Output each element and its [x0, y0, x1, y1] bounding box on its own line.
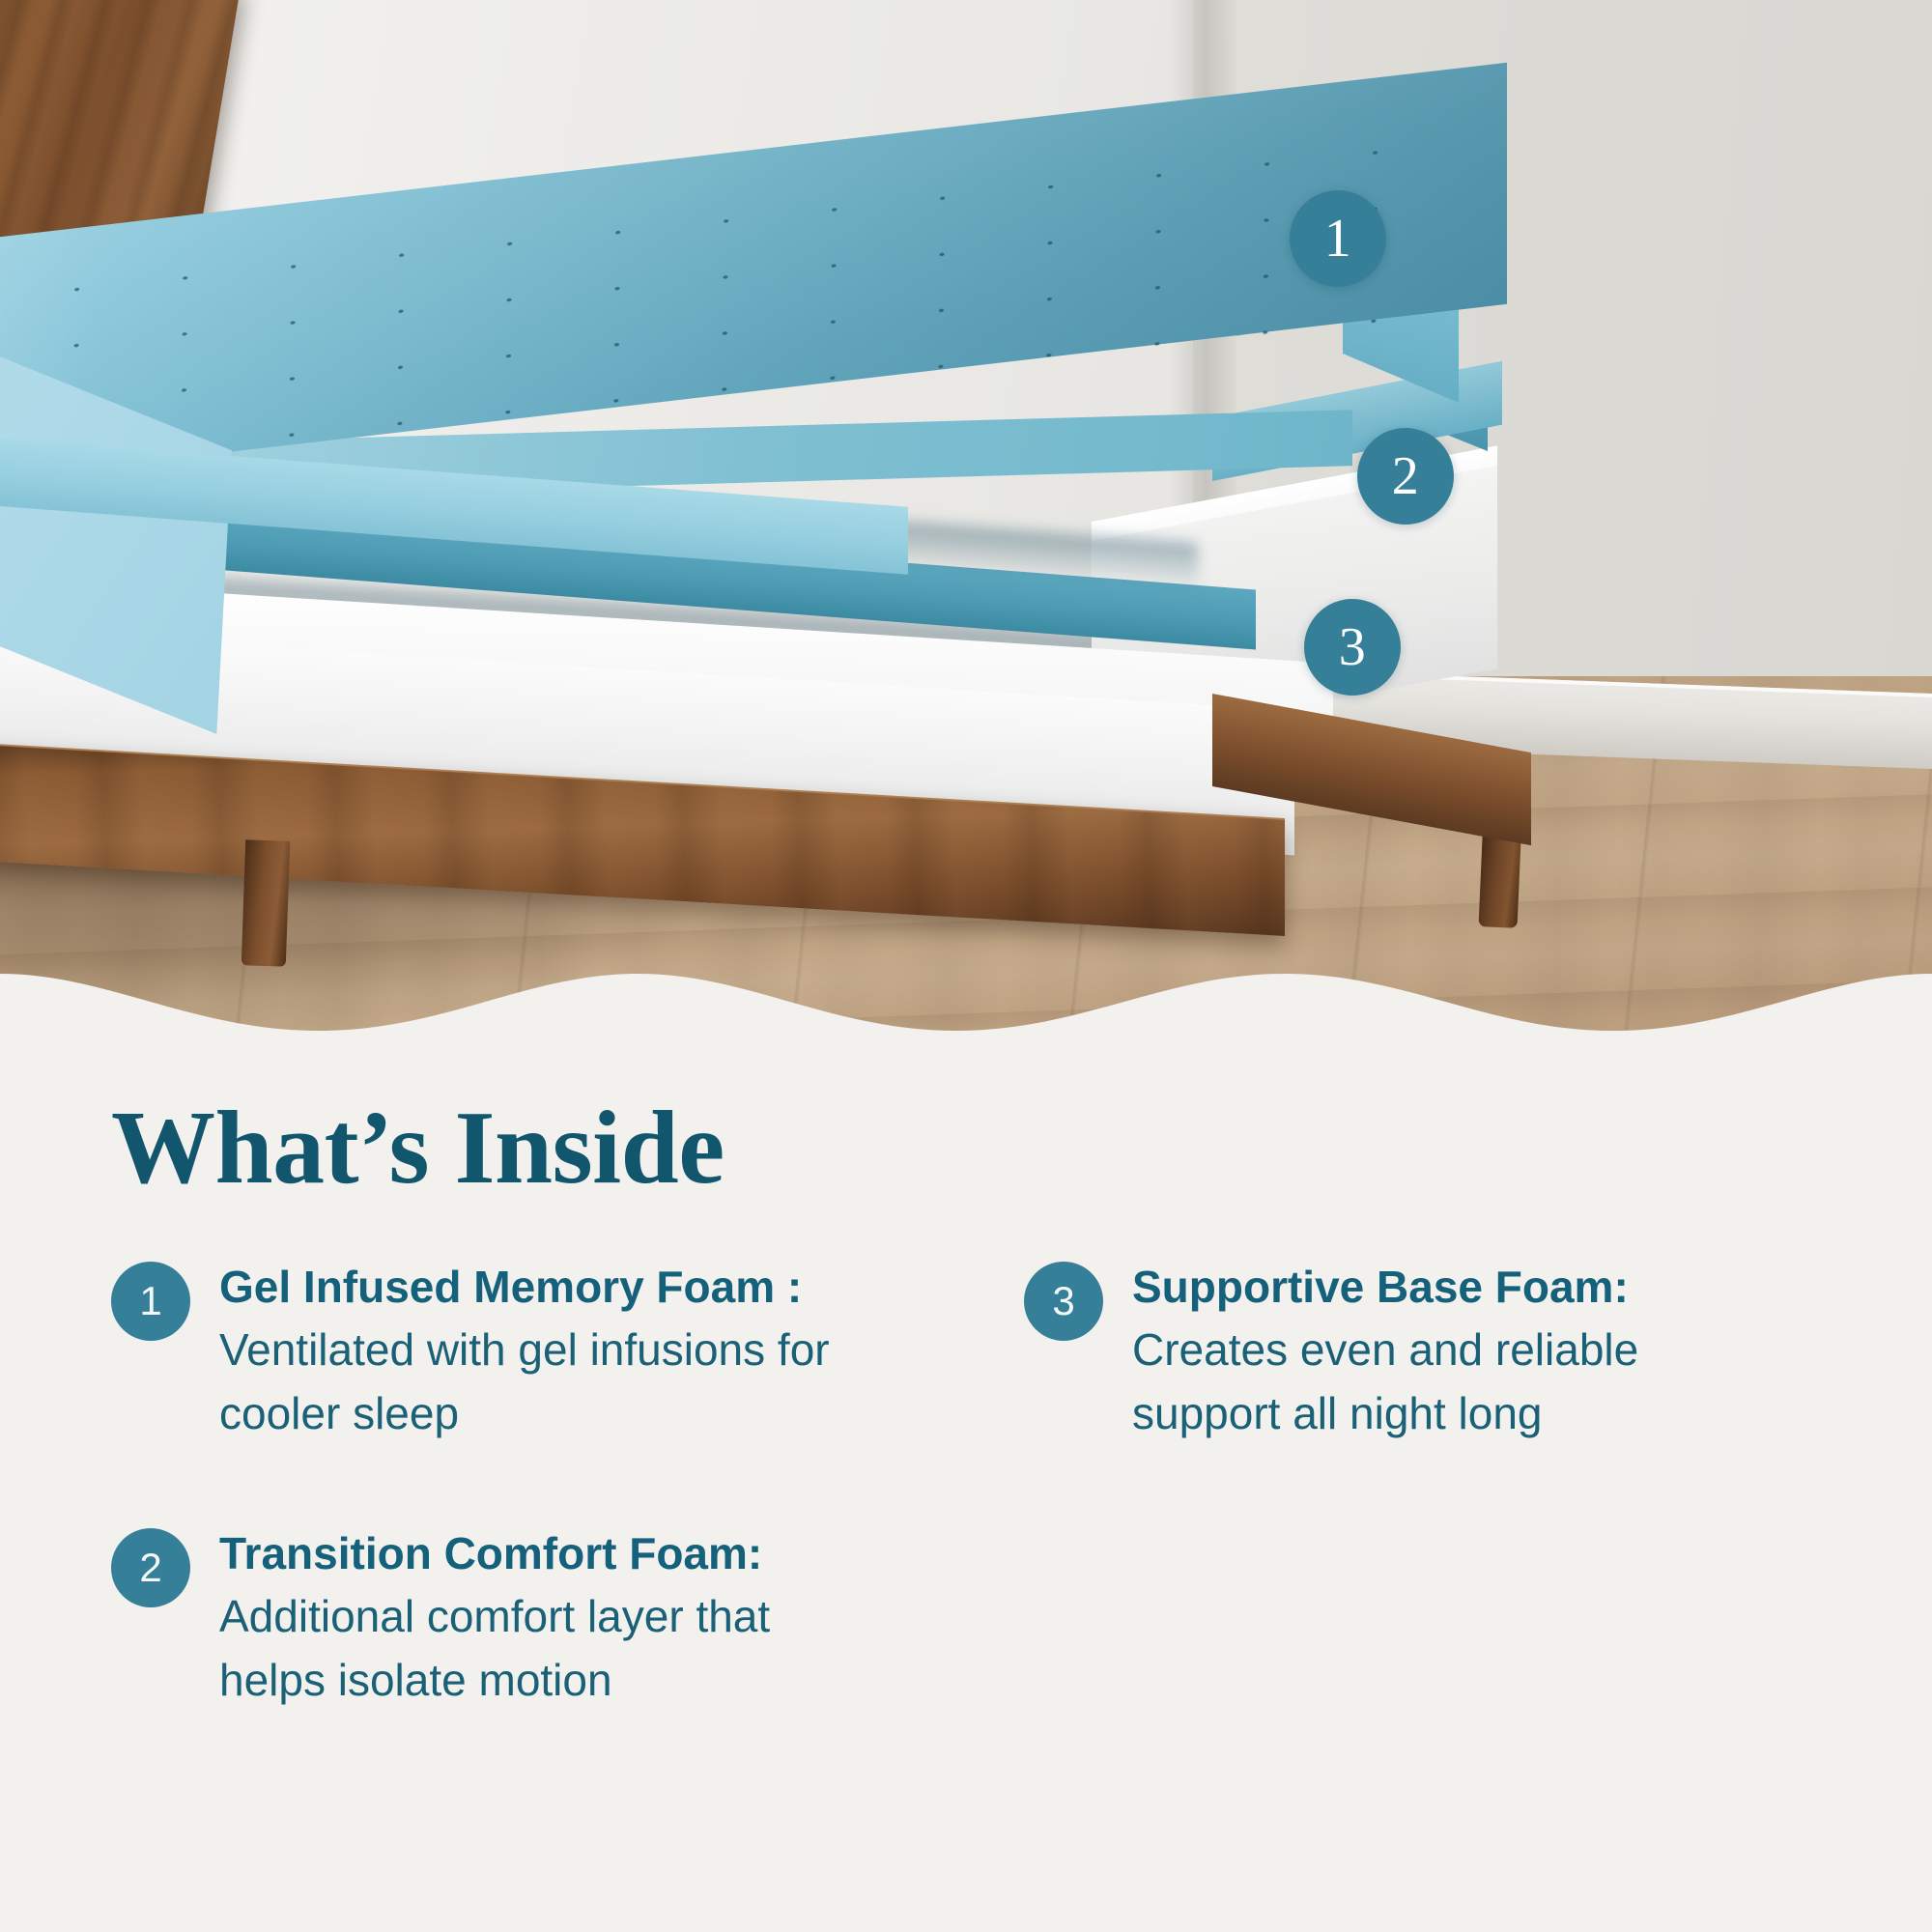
photo-callout-badge-2: 2 [1357, 428, 1454, 525]
feature-badge-3: 3 [1024, 1262, 1103, 1341]
feature-badge-3-number: 3 [1052, 1281, 1074, 1321]
feature-text-3: Supportive Base Foam: Creates even and r… [1132, 1256, 1750, 1445]
photo-callout-badge-3: 3 [1304, 599, 1401, 696]
feature-description-3: Creates even and reliable support all ni… [1132, 1324, 1638, 1437]
feature-item-1: 1 Gel Infused Memory Foam : Ventilated w… [111, 1256, 966, 1445]
feature-label-2: Transition Comfort Foam: [219, 1528, 762, 1578]
feature-label-1: Gel Infused Memory Foam : [219, 1262, 802, 1312]
photo-callout-badge-1: 1 [1290, 190, 1386, 287]
photo-callout-badge-2-number: 2 [1392, 449, 1420, 503]
feature-badge-2: 2 [111, 1528, 190, 1607]
feature-badge-2-number: 2 [139, 1548, 161, 1588]
mattress-layer-cutaway-photo: 1 2 3 [0, 0, 1932, 1048]
photo-callout-badge-1-number: 1 [1324, 212, 1352, 266]
feature-text-2: Transition Comfort Foam: Additional comf… [219, 1522, 838, 1712]
features-column-left: 1 Gel Infused Memory Foam : Ventilated w… [0, 1256, 966, 1789]
feature-item-3: 3 Supportive Base Foam: Creates even and… [1024, 1256, 1932, 1445]
whats-inside-content: What’s Inside 1 Gel Infused Memory Foam … [0, 1048, 1932, 1932]
feature-badge-1-number: 1 [139, 1281, 161, 1321]
feature-description-2: Additional comfort layer that helps isol… [219, 1591, 770, 1704]
feature-label-3: Supportive Base Foam: [1132, 1262, 1629, 1312]
feature-description-1: Ventilated with gel infusions for cooler… [219, 1324, 830, 1437]
features-column-right: 3 Supportive Base Foam: Creates even and… [966, 1256, 1932, 1789]
feature-item-2: 2 Transition Comfort Foam: Additional co… [111, 1522, 966, 1712]
photo-callout-badge-3-number: 3 [1339, 620, 1367, 674]
page-title: What’s Inside [111, 1096, 724, 1201]
features-columns: 1 Gel Infused Memory Foam : Ventilated w… [0, 1256, 1932, 1789]
whats-inside-infographic: 1 2 3 What’s Inside 1 Gel Infused Memory… [0, 0, 1932, 1932]
wave-divider [0, 942, 1932, 1048]
feature-badge-1: 1 [111, 1262, 190, 1341]
feature-text-1: Gel Infused Memory Foam : Ventilated wit… [219, 1256, 838, 1445]
